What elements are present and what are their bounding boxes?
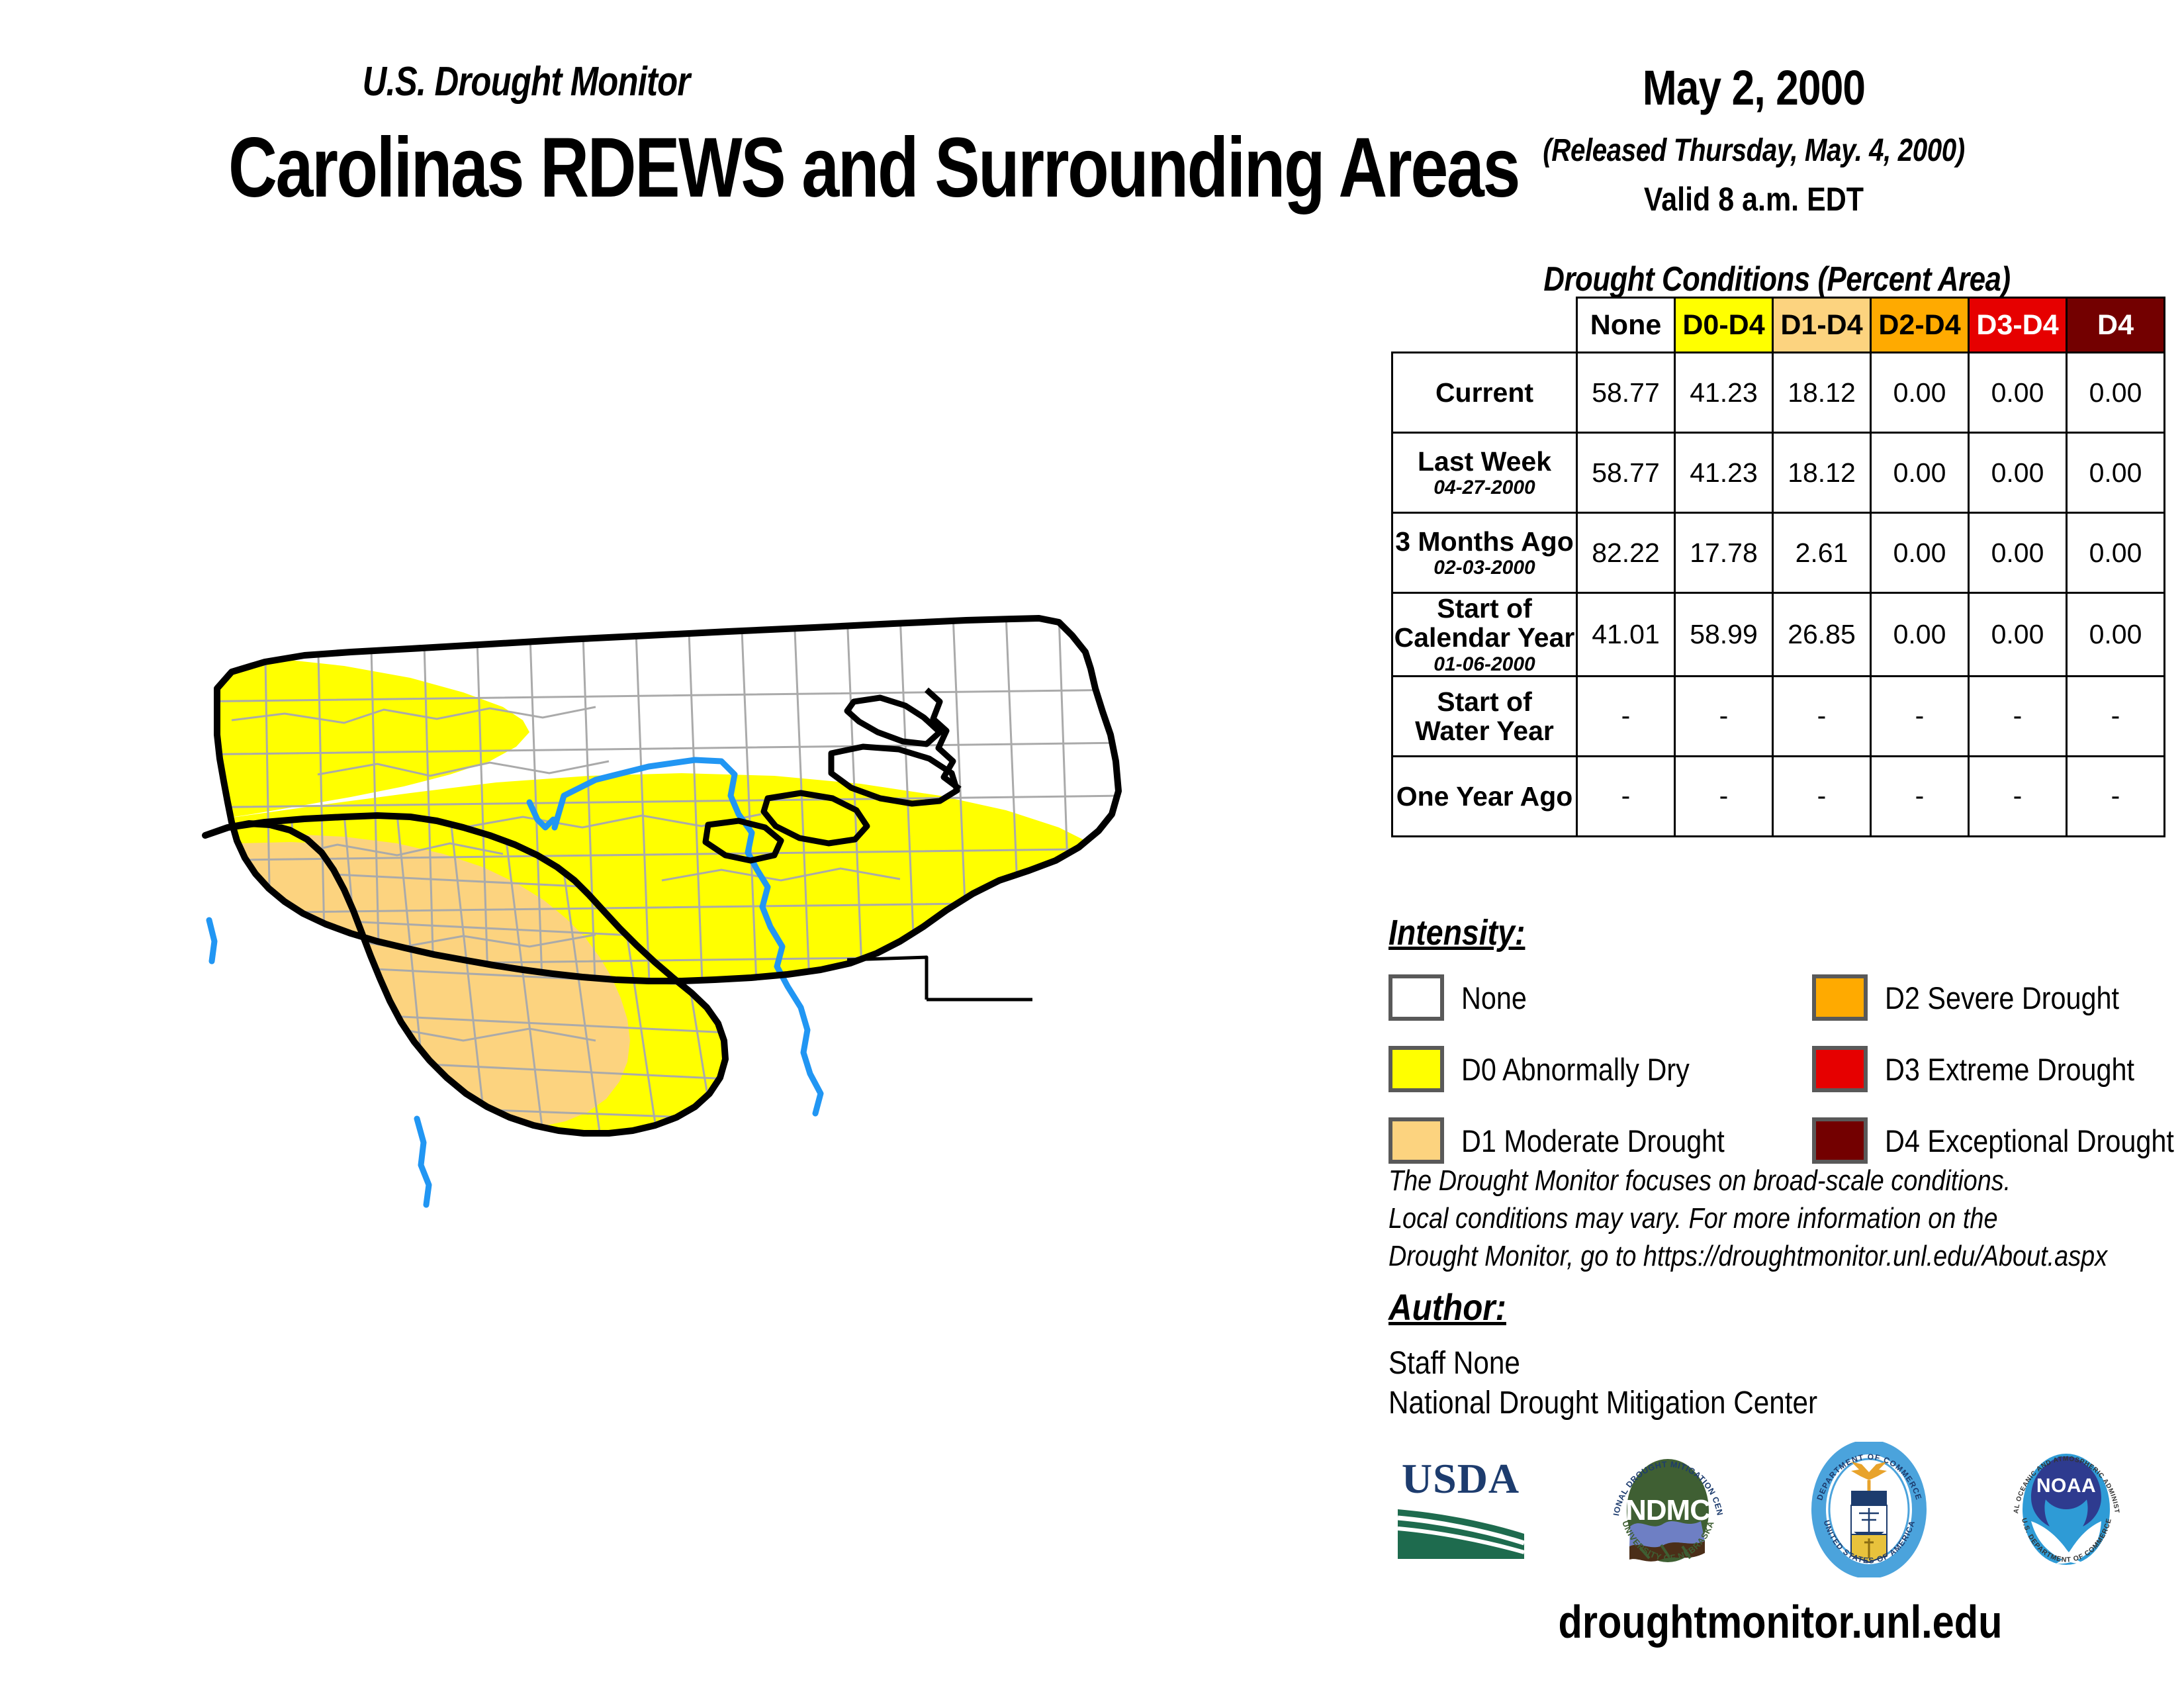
intensity-heading: Intensity: (1388, 912, 1525, 953)
cell-3mo-none: 82.22 (1577, 513, 1675, 593)
cell-lastweek-d0d4: 41.23 (1675, 433, 1773, 513)
logo-row: USDA NDMC NATIONAL DROUGHT MITIGATION CE… (1390, 1440, 2131, 1582)
row-label-start-calendar-year: Start ofCalendar Year 01-06-2000 (1392, 593, 1577, 677)
swatch-d2-icon (1812, 974, 1868, 1021)
legend-item-d3: D3 Extreme Drought (1812, 1043, 2176, 1095)
cell-cal-d3d4: 0.00 (1969, 593, 2067, 677)
legend-label-none: None (1461, 980, 1527, 1016)
legend-item-d4: D4 Exceptional Drought (1812, 1115, 2176, 1166)
table-caption: Drought Conditions (Percent Area) (1446, 259, 2108, 299)
row-label-date: 04-27-2000 (1393, 477, 1576, 498)
table-row: Last Week 04-27-2000 58.77 41.23 18.12 0… (1392, 433, 2165, 513)
legend-label-d4: D4 Exceptional Drought (1885, 1123, 2174, 1159)
disclaimer-text: The Drought Monitor focuses on broad-sca… (1388, 1162, 2071, 1276)
row-label-text: Current (1435, 377, 1533, 408)
cell-3mo-d2d4: 0.00 (1871, 513, 1969, 593)
cell-current-none: 58.77 (1577, 353, 1675, 433)
cell-current-d4: 0.00 (2067, 353, 2165, 433)
legend-item-d0: D0 Abnormally Dry (1388, 1043, 1812, 1095)
intensity-legend: None D2 Severe Drought D0 Abnormally Dry… (1388, 972, 2176, 1166)
cell-3mo-d4: 0.00 (2067, 513, 2165, 593)
cell-lastweek-d3d4: 0.00 (1969, 433, 2067, 513)
ndmc-logo: NDMC NATIONAL DROUGHT MITIGATION CENTER … (1600, 1442, 1736, 1581)
col-header-d4: D4 (2067, 298, 2165, 353)
cell-lastweek-none: 58.77 (1577, 433, 1675, 513)
row-label-date: 02-03-2000 (1393, 557, 1576, 579)
table-row: Start ofWater Year - - - - - - (1392, 676, 2165, 756)
row-label-text: Start ofCalendar Year (1394, 593, 1575, 653)
cell-water-none: - (1577, 676, 1675, 756)
row-label-text: Last Week (1418, 446, 1551, 477)
legend-label-d2: D2 Severe Drought (1885, 980, 2119, 1016)
drought-conditions-table[interactable]: None D0-D4 D1-D4 D2-D4 D3-D4 D4 Current … (1391, 297, 2165, 837)
svg-text:NDMC: NDMC (1625, 1494, 1710, 1526)
svg-text:USDA: USDA (1402, 1455, 1520, 1502)
legend-label-d1: D1 Moderate Drought (1461, 1123, 1725, 1159)
col-header-none: None (1577, 298, 1675, 353)
map-date: May 2, 2000 (1576, 60, 1932, 116)
drought-map[interactable] (66, 536, 1363, 1331)
cell-current-d3d4: 0.00 (1969, 353, 2067, 433)
col-header-d3d4: D3-D4 (1969, 298, 2067, 353)
program-subtitle: U.S. Drought Monitor (95, 58, 958, 105)
swatch-d0-icon (1388, 1046, 1444, 1092)
cell-water-d4: - (2067, 676, 2165, 756)
author-block: Staff None National Drought Mitigation C… (1388, 1344, 2029, 1424)
row-label-date: 01-06-2000 (1393, 654, 1576, 675)
cell-cal-d4: 0.00 (2067, 593, 2165, 677)
cell-1yr-d0d4: - (1675, 756, 1773, 836)
author-heading: Author: (1388, 1286, 1506, 1329)
cell-current-d1d4: 18.12 (1773, 353, 1871, 433)
table-header-row: None D0-D4 D1-D4 D2-D4 D3-D4 D4 (1392, 298, 2165, 353)
cell-water-d0d4: - (1675, 676, 1773, 756)
legend-label-d3: D3 Extreme Drought (1885, 1051, 2134, 1088)
doc-logo: DEPARTMENT OF COMMERCE UNITED STATES OF … (1805, 1442, 1934, 1581)
svg-text:NOAA: NOAA (2036, 1475, 2096, 1497)
cell-cal-d0d4: 58.99 (1675, 593, 1773, 677)
cell-3mo-d0d4: 17.78 (1675, 513, 1773, 593)
cell-water-d2d4: - (1871, 676, 1969, 756)
swatch-d4-icon (1812, 1117, 1868, 1164)
row-label-start-water-year: Start ofWater Year (1392, 676, 1577, 756)
row-label-text: Start ofWater Year (1415, 686, 1554, 746)
row-label-last-week: Last Week 04-27-2000 (1392, 433, 1577, 513)
cell-current-d2d4: 0.00 (1871, 353, 1969, 433)
table-row: Start ofCalendar Year 01-06-2000 41.01 5… (1392, 593, 2165, 677)
header-spacer (1392, 298, 1577, 353)
cell-lastweek-d4: 0.00 (2067, 433, 2165, 513)
cell-lastweek-d2d4: 0.00 (1871, 433, 1969, 513)
row-label-text: 3 Months Ago (1395, 526, 1574, 557)
table-row: 3 Months Ago 02-03-2000 82.22 17.78 2.61… (1392, 513, 2165, 593)
cell-cal-d1d4: 26.85 (1773, 593, 1871, 677)
site-url[interactable]: droughtmonitor.unl.edu (1443, 1595, 2118, 1648)
legend-item-d2: D2 Severe Drought (1812, 972, 2176, 1023)
table-row: Current 58.77 41.23 18.12 0.00 0.00 0.00 (1392, 353, 2165, 433)
legend-item-none: None (1388, 972, 1812, 1023)
cell-1yr-none: - (1577, 756, 1675, 836)
col-header-d1d4: D1-D4 (1773, 298, 1871, 353)
cell-1yr-d1d4: - (1773, 756, 1871, 836)
cell-1yr-d4: - (2067, 756, 2165, 836)
cell-current-d0d4: 41.23 (1675, 353, 1773, 433)
row-label-3-months-ago: 3 Months Ago 02-03-2000 (1392, 513, 1577, 593)
noaa-logo: NOAA NATIONAL OCEANIC AND ATMOSPHERIC AD… (2002, 1442, 2131, 1581)
legend-item-d1: D1 Moderate Drought (1388, 1115, 1812, 1166)
page-title: Carolinas RDEWS and Surrounding Areas (154, 119, 1594, 216)
legend-label-d0: D0 Abnormally Dry (1461, 1051, 1690, 1088)
valid-time: Valid 8 a.m. EDT (1572, 180, 1936, 218)
row-label-one-year-ago: One Year Ago (1392, 756, 1577, 836)
cell-water-d1d4: - (1773, 676, 1871, 756)
cell-1yr-d3d4: - (1969, 756, 2067, 836)
cell-lastweek-d1d4: 18.12 (1773, 433, 1871, 513)
cell-1yr-d2d4: - (1871, 756, 1969, 836)
cell-3mo-d3d4: 0.00 (1969, 513, 2067, 593)
cell-water-d3d4: - (1969, 676, 2067, 756)
cell-cal-d2d4: 0.00 (1871, 593, 1969, 677)
swatch-none-icon (1388, 974, 1444, 1021)
cell-3mo-d1d4: 2.61 (1773, 513, 1871, 593)
author-name: Staff None (1388, 1344, 2029, 1383)
usda-logo: USDA (1390, 1446, 1532, 1575)
row-label-current: Current (1392, 353, 1577, 433)
row-label-text: One Year Ago (1396, 781, 1573, 812)
table-row: One Year Ago - - - - - - (1392, 756, 2165, 836)
cell-cal-none: 41.01 (1577, 593, 1675, 677)
col-header-d2d4: D2-D4 (1871, 298, 1969, 353)
author-affiliation: National Drought Mitigation Center (1388, 1383, 2029, 1423)
swatch-d3-icon (1812, 1046, 1868, 1092)
col-header-d0d4: D0-D4 (1675, 298, 1773, 353)
swatch-d1-icon (1388, 1117, 1444, 1164)
